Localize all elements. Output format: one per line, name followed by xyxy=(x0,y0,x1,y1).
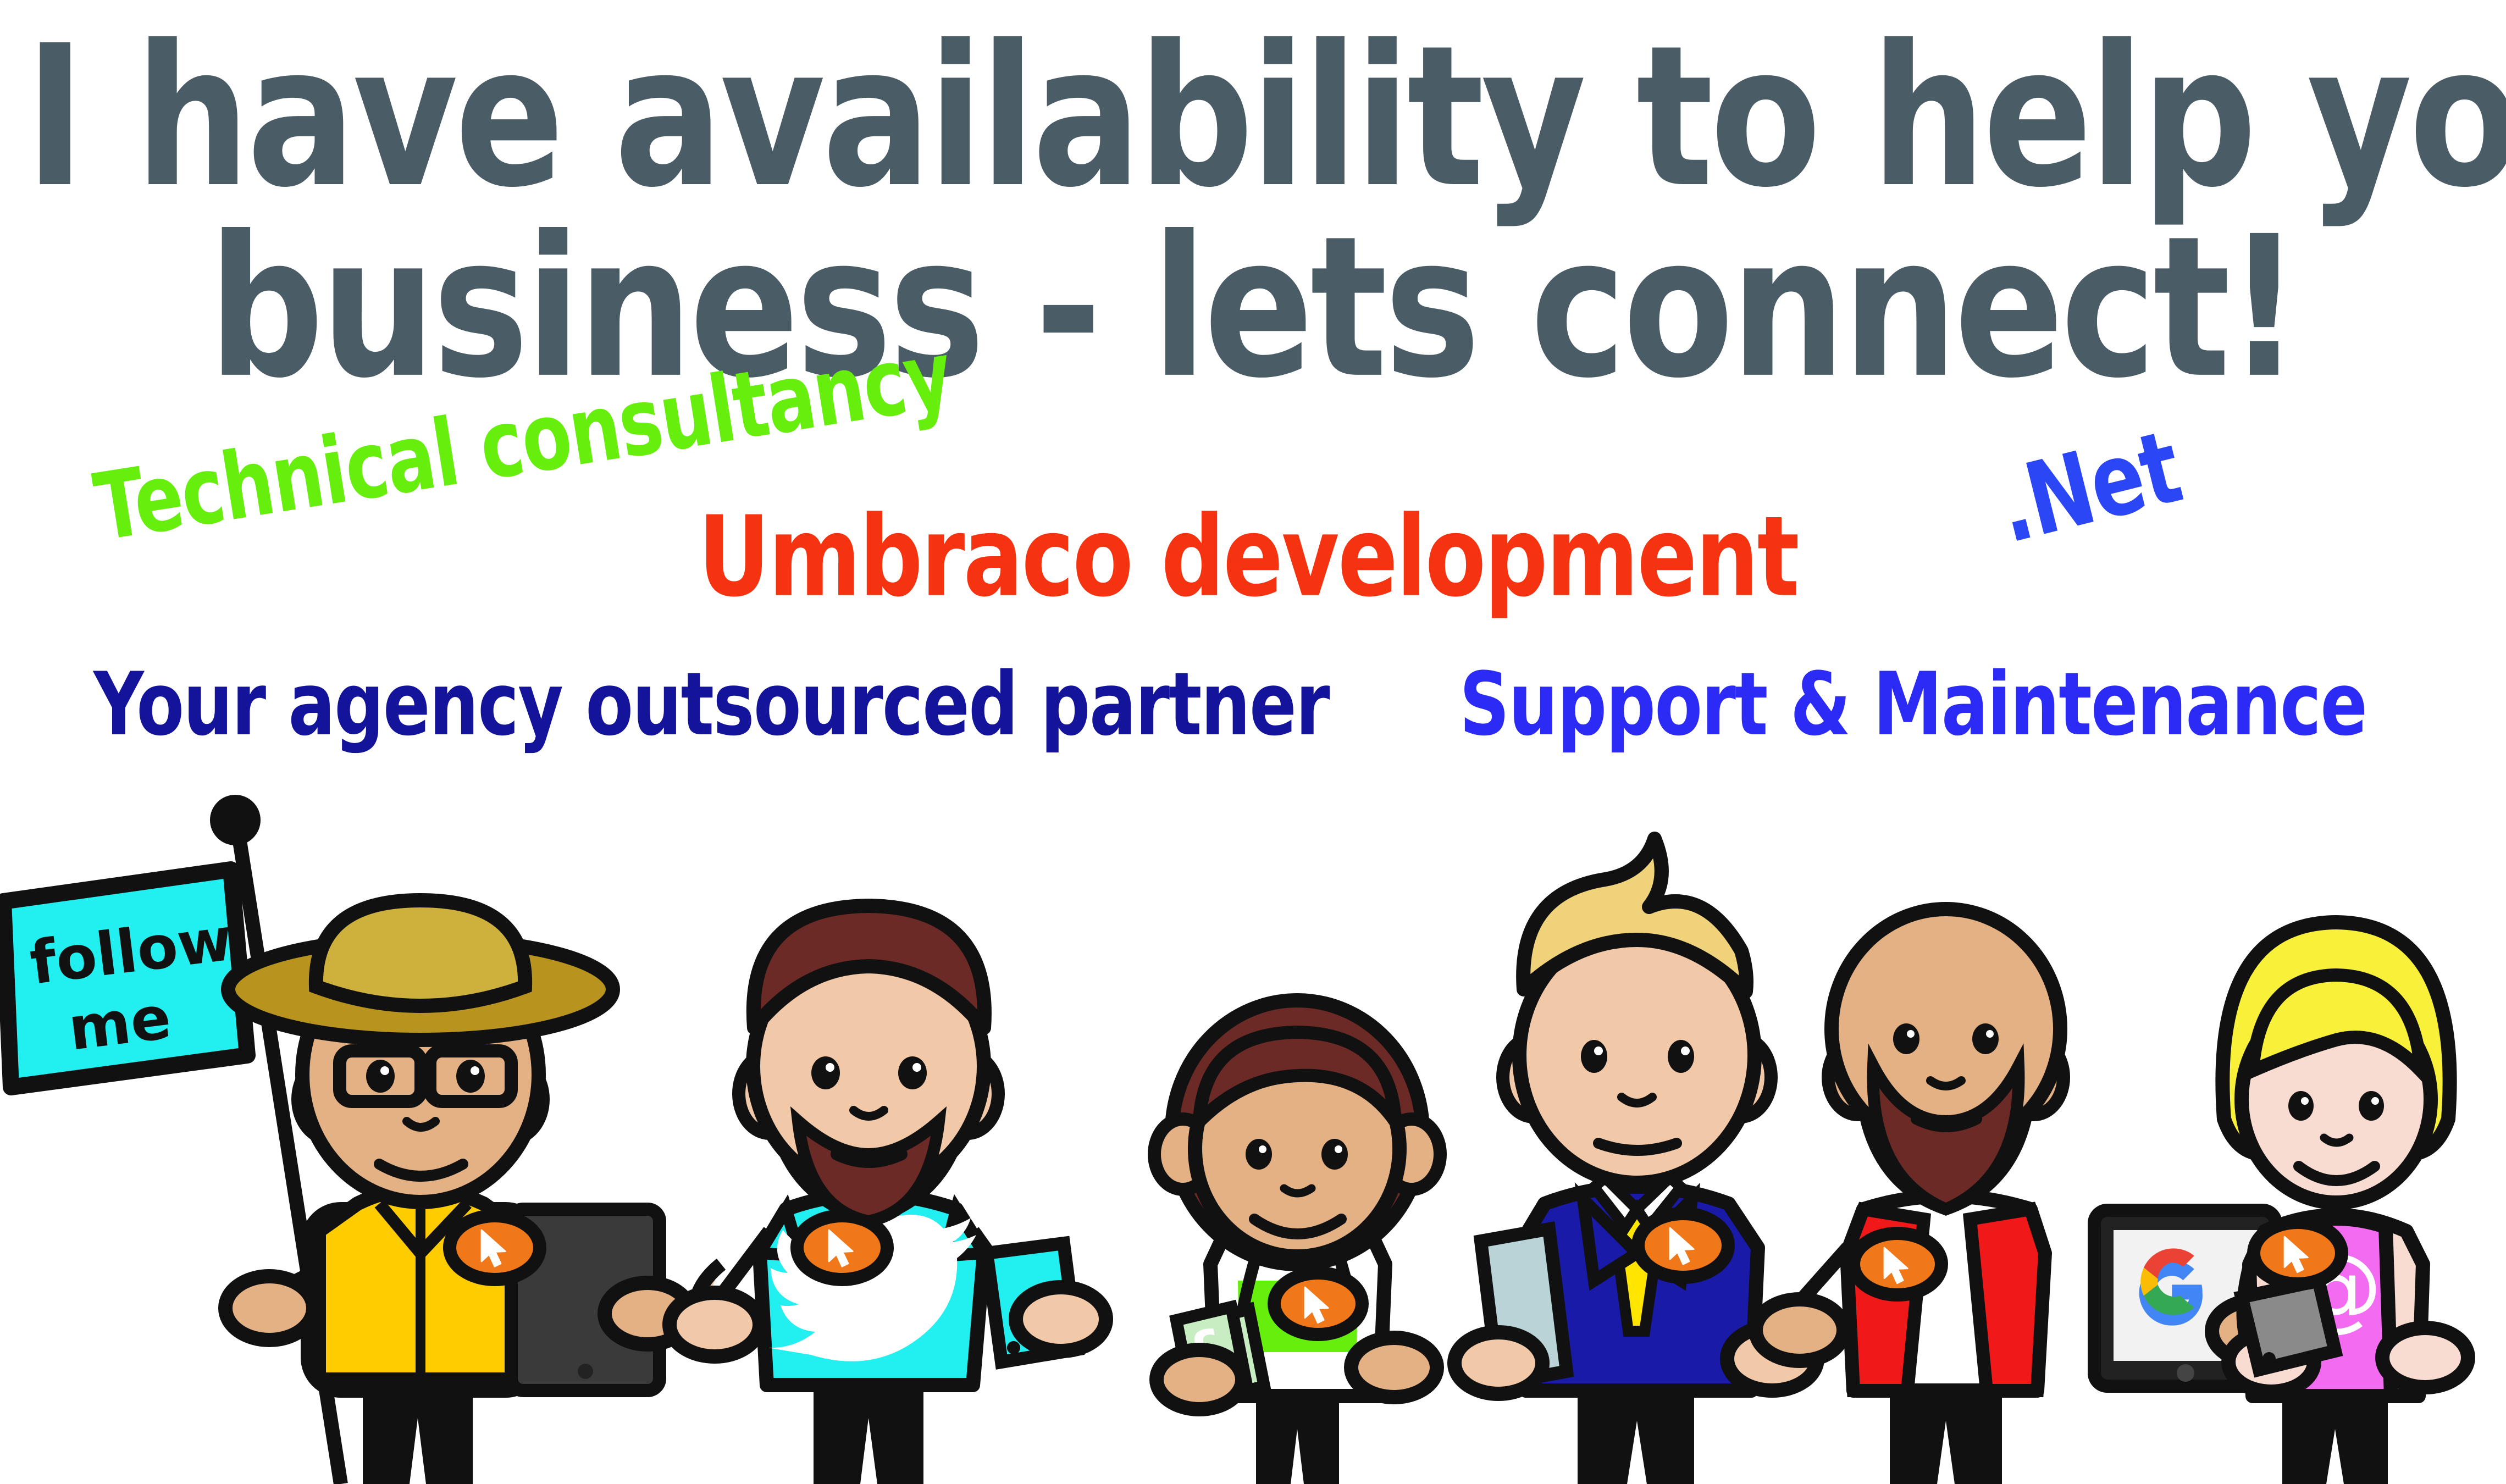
follow-me-flag: follow me xyxy=(3,795,341,1484)
tagline-dotnet: .Net xyxy=(1987,409,2191,566)
headline-line-1: I have availability to help your xyxy=(25,22,2481,213)
grey-tablet[interactable] xyxy=(2242,1281,2335,1370)
character-lineup: follow me xyxy=(0,769,2506,1484)
cursor-badge[interactable] xyxy=(1854,1233,1941,1295)
cursor-badge[interactable] xyxy=(2254,1222,2342,1284)
tagline-umbraco-development: Umbraco development xyxy=(698,492,1798,621)
cursor-badge[interactable] xyxy=(450,1216,540,1280)
cursor-badge[interactable] xyxy=(1274,1273,1362,1335)
character-finance-assistant[interactable]: £ xyxy=(1154,1000,1440,1484)
character-twitter-developer[interactable] xyxy=(670,906,1106,1484)
tagline-support-maintenance: Support & Maintenance xyxy=(1459,654,2366,756)
flag-label-line2: me xyxy=(65,983,175,1064)
character-seo-specialist[interactable] xyxy=(1756,909,2300,1484)
character-business-manager[interactable] xyxy=(1454,839,1817,1484)
cursor-badge[interactable] xyxy=(1638,1214,1728,1277)
tagline-agency-partner: Your agency outsourced partner xyxy=(93,654,1329,756)
headline-line-2: business - lets connect! xyxy=(25,213,2481,403)
sun-hat-icon xyxy=(228,900,613,1040)
character-email-marketer[interactable]: @ xyxy=(2222,922,2468,1484)
poster-canvas: I have availability to help your busines… xyxy=(0,0,2506,1484)
page-title: I have availability to help your busines… xyxy=(25,22,2481,403)
